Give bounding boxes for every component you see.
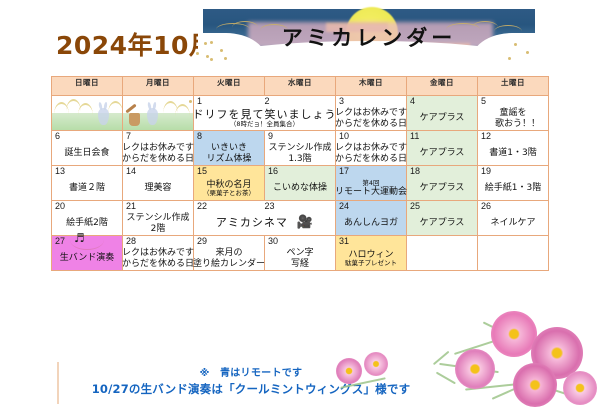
event-content: ステンシル作成 2階 bbox=[123, 212, 193, 235]
event-line-1: ネイルケア bbox=[490, 218, 535, 228]
day-number: 31 bbox=[339, 236, 349, 247]
calendar-week-row: 6 誕生日会食 7 レクはお休みです からだを休める日 8 いきいき bbox=[52, 131, 549, 166]
event-line-2: 写経 bbox=[291, 259, 309, 269]
weekday-header-tue: 火曜日 bbox=[194, 77, 265, 96]
event-content: 中秋の名月 （栗菓子とお茶） bbox=[194, 177, 264, 200]
calendar-cell-day-25[interactable]: 25 ケアプラス bbox=[407, 201, 478, 236]
calendar-cell-day-1[interactable]: 1 ドリフを見て笑いましょう （8時だョ！全員集合） 2 bbox=[194, 96, 336, 131]
day-number: 29 bbox=[197, 236, 207, 247]
event-content: 理美容 bbox=[123, 177, 193, 200]
calendar-banner: アミカレンダー bbox=[198, 5, 540, 63]
calendar-week-row: 1 ドリフを見て笑いましょう （8時だョ！全員集合） 2 3 レクはお休みです … bbox=[52, 96, 549, 131]
flower-leaf bbox=[492, 388, 515, 399]
weekday-header-fri: 金曜日 bbox=[407, 77, 478, 96]
kine-pestle-icon bbox=[125, 104, 136, 114]
event-content: 生バンド演奏 bbox=[52, 247, 122, 270]
sparkle-dot-icon bbox=[224, 57, 227, 60]
sparkle-dot-icon bbox=[508, 57, 511, 60]
event-subtext: （栗菓子とお茶） bbox=[203, 190, 255, 197]
calendar-cell-day-11[interactable]: 11 ケアプラス bbox=[407, 131, 478, 166]
event-line-1: ステンシル作成 bbox=[126, 213, 189, 223]
event-line-1: 絵手紙2階 bbox=[66, 218, 108, 228]
calendar-cell-day-16[interactable]: 16 こいめな体操 bbox=[265, 166, 336, 201]
calendar-cell-empty[interactable] bbox=[407, 236, 478, 271]
calendar-cell-day-9[interactable]: 9 ステンシル作成 1.3階 bbox=[265, 131, 336, 166]
sparkle-dot-icon bbox=[189, 100, 192, 103]
day-number: 10 bbox=[339, 131, 349, 142]
event-line-1: 理美容 bbox=[144, 183, 171, 193]
event-content: アミカシネマ 🎥 bbox=[194, 212, 335, 235]
event-line-2: からだを休める日 bbox=[335, 154, 407, 164]
event-content: ハロウィン 駄菓子プレゼント bbox=[336, 247, 406, 270]
event-content: ケアプラス bbox=[407, 177, 477, 200]
event-content: レクはお休みです からだを休める日 bbox=[123, 247, 193, 270]
day-number: 8 bbox=[197, 131, 202, 142]
cosmos-flower-icon bbox=[563, 371, 597, 405]
event-line-1: 絵手紙1・3階 bbox=[485, 183, 541, 193]
flower-stem bbox=[465, 381, 535, 390]
calendar-cell-day-30[interactable]: 30 ペン字 写経 bbox=[265, 236, 336, 271]
day-number: 5 bbox=[481, 96, 486, 107]
weekday-header-sat: 土曜日 bbox=[478, 77, 549, 96]
day-number: 16 bbox=[268, 166, 278, 177]
weekday-header-mon: 月曜日 bbox=[123, 77, 194, 96]
day-number: 18 bbox=[410, 166, 420, 177]
calendar-cell-day-10[interactable]: 10 レクはお休みです からだを休める日 bbox=[336, 131, 407, 166]
day-number: 6 bbox=[55, 131, 60, 142]
event-line-1: 誕生日会食 bbox=[64, 148, 109, 158]
calendar-cell-day-20[interactable]: 20 絵手紙2階 bbox=[52, 201, 123, 236]
day-number: 15 bbox=[197, 166, 207, 177]
event-subtext: （8時だョ！全員集合） bbox=[230, 121, 299, 128]
calendar-container: 日曜日 月曜日 火曜日 水曜日 木曜日 金曜日 土曜日 bbox=[51, 76, 549, 271]
event-line-2: からだを休める日 bbox=[122, 154, 194, 164]
event-line-2: リズム体操 bbox=[206, 154, 251, 164]
event-line-1: レクはお休みです bbox=[122, 248, 194, 258]
event-line-2: 塗り絵カレンダー bbox=[193, 259, 265, 269]
event-content: ドリフを見て笑いましょう （8時だョ！全員集合） bbox=[194, 107, 335, 130]
flower-stem bbox=[483, 321, 523, 342]
day-number: 19 bbox=[481, 166, 491, 177]
calendar-cell-day-6[interactable]: 6 誕生日会食 bbox=[52, 131, 123, 166]
event-content: レクはお休みです からだを休める日 bbox=[336, 107, 406, 130]
event-line-2: 歌おう！！ bbox=[486, 119, 540, 129]
event-line-1: ケアプラス bbox=[420, 218, 465, 228]
sparkle-dot-icon bbox=[204, 42, 207, 45]
event-line-1: ケアプラス bbox=[420, 113, 465, 123]
weekday-header-sun: 日曜日 bbox=[52, 77, 123, 96]
event-line-1: こいめな体操 bbox=[273, 183, 327, 193]
flower-leaf bbox=[433, 351, 449, 365]
calendar-cell-day-4[interactable]: 4 ケアプラス bbox=[407, 96, 478, 131]
usu-mortar-icon bbox=[129, 113, 140, 126]
calendar-cell-day-29[interactable]: 29 来月の 塗り絵カレンダー bbox=[194, 236, 265, 271]
event-content: ネイルケア bbox=[478, 212, 548, 235]
event-line-1: ペン字 bbox=[286, 248, 313, 258]
day-number: 24 bbox=[339, 201, 349, 212]
calendar-week-row: 27 ♬ 生バンド演奏 28 レクはお休みです からだを休める日 bbox=[52, 236, 549, 271]
day-number: 21 bbox=[126, 201, 136, 212]
event-content: 絵手紙1・3階 bbox=[478, 177, 548, 200]
calendar-week-row: 20 絵手紙2階 21 ステンシル作成 2階 22 bbox=[52, 201, 549, 236]
event-content: こいめな体操 bbox=[265, 177, 335, 200]
day-number: 7 bbox=[126, 131, 131, 142]
event-line-2: 2階 bbox=[151, 224, 166, 234]
event-line-1: ケアプラス bbox=[420, 183, 465, 193]
calendar-cell-day-21[interactable]: 21 ステンシル作成 2階 bbox=[123, 201, 194, 236]
day-number: 9 bbox=[268, 131, 273, 142]
susuki-grass-icon bbox=[175, 104, 190, 119]
event-line-1: 第4回 bbox=[362, 180, 379, 187]
event-line-1: いきいき bbox=[211, 143, 247, 153]
event-content: 書道1・3階 bbox=[478, 142, 548, 165]
day-number: 26 bbox=[481, 201, 491, 212]
event-content: 絵手紙2階 bbox=[52, 212, 122, 235]
event-content: ペン字 写経 bbox=[265, 247, 335, 270]
day-number: 27 bbox=[55, 236, 65, 247]
event-content: レクはお休みです からだを休める日 bbox=[123, 142, 193, 165]
calendar-cell-day-22[interactable]: 22 アミカシネマ 🎥 23 bbox=[194, 201, 336, 236]
day-number: 20 bbox=[55, 201, 65, 212]
flower-leaf bbox=[541, 385, 566, 394]
day-number: 12 bbox=[481, 131, 491, 142]
calendar-cell-day-13[interactable]: 13 書道２階 bbox=[52, 166, 123, 201]
weekday-header-row: 日曜日 月曜日 火曜日 水曜日 木曜日 金曜日 土曜日 bbox=[52, 77, 549, 96]
event-content: 童謡を 歌おう！！ bbox=[478, 107, 548, 130]
event-line-1: ステンシル作成 bbox=[268, 143, 331, 153]
film-camera-icon: 🎥 bbox=[297, 216, 313, 231]
day-number: 13 bbox=[55, 166, 65, 177]
cosmos-flower-icon bbox=[513, 363, 557, 407]
day-number: 1 bbox=[197, 96, 202, 107]
event-line-1: 生バンド演奏 bbox=[60, 253, 114, 263]
event-line-1: レクはお休みです bbox=[122, 143, 194, 153]
event-content: 第4回 リモート大運動会 bbox=[336, 177, 406, 200]
footer-accent-bar bbox=[57, 362, 59, 404]
calendar-cell-day-5[interactable]: 5 童謡を 歌おう！！ bbox=[478, 96, 549, 131]
event-line-2: からだを休める日 bbox=[122, 259, 194, 269]
flower-stem bbox=[454, 337, 504, 355]
calendar-cell-day-18[interactable]: 18 ケアプラス bbox=[407, 166, 478, 201]
susuki-grass-icon bbox=[108, 101, 122, 116]
calendar-cell-day-15[interactable]: 15 中秋の名月 （栗菓子とお茶） bbox=[194, 166, 265, 201]
event-content: ケアプラス bbox=[407, 142, 477, 165]
event-line-1: レクはお休みです bbox=[335, 143, 407, 153]
event-line-1: 来月の bbox=[215, 248, 242, 258]
day-number: 11 bbox=[410, 131, 419, 142]
banner-title: アミカレンダー bbox=[198, 22, 540, 52]
event-content: ケアプラス bbox=[407, 107, 477, 130]
day-number: 30 bbox=[268, 236, 278, 247]
event-line-1: 童謡を bbox=[499, 108, 526, 118]
footer-note-line-2: 10/27の生バンド演奏は「クールミントウィングス」様です bbox=[51, 381, 451, 397]
page-header: 2024年10月 アミカレンダー bbox=[0, 0, 600, 72]
calendar-cell-day-24[interactable]: 24 あんしんヨガ bbox=[336, 201, 407, 236]
event-content: ケアプラス bbox=[407, 212, 477, 235]
tsukimi-illustration bbox=[52, 96, 122, 130]
calendar-cell-day-31[interactable]: 31 ハロウィン 駄菓子プレゼント bbox=[336, 236, 407, 271]
day-number: 2 bbox=[265, 96, 270, 107]
calendar-cell-empty[interactable] bbox=[478, 236, 549, 271]
event-line-1: 書道２階 bbox=[69, 183, 105, 193]
calendar-cell-day-3[interactable]: 3 レクはお休みです からだを休める日 bbox=[336, 96, 407, 131]
event-content: あんしんヨガ bbox=[336, 212, 406, 235]
calendar-cell-day-28[interactable]: 28 レクはお休みです からだを休める日 bbox=[123, 236, 194, 271]
event-line-2: 1.3階 bbox=[288, 154, 311, 164]
footer-note: ※ 青はリモートです 10/27の生バンド演奏は「クールミントウィングス」様です bbox=[51, 364, 451, 397]
cosmos-flower-icon bbox=[531, 327, 583, 379]
day-number: 23 bbox=[265, 201, 275, 212]
weekday-header-wed: 水曜日 bbox=[265, 77, 336, 96]
event-content: レクはお休みです からだを休める日 bbox=[336, 142, 406, 165]
cosmos-flower-icon bbox=[491, 311, 537, 357]
event-line-1: ケアプラス bbox=[420, 148, 465, 158]
calendar-cell-day-17[interactable]: 17 第4回 リモート大運動会 bbox=[336, 166, 407, 201]
month-title: 2024年10月 bbox=[56, 26, 214, 62]
calendar-table: 日曜日 月曜日 火曜日 水曜日 木曜日 金曜日 土曜日 bbox=[51, 76, 549, 271]
rabbit-icon bbox=[147, 108, 158, 125]
calendar-cell-day-12[interactable]: 12 書道1・3階 bbox=[478, 131, 549, 166]
calendar-cell-day-27[interactable]: 27 ♬ 生バンド演奏 bbox=[52, 236, 123, 271]
footer-note-line-1: ※ 青はリモートです bbox=[51, 364, 451, 379]
calendar-cell-day-14[interactable]: 14 理美容 bbox=[123, 166, 194, 201]
event-subtext: 駄菓子プレゼント bbox=[345, 260, 397, 267]
event-content: 書道２階 bbox=[52, 177, 122, 200]
tsukimi-illustration bbox=[123, 96, 193, 130]
event-content: 誕生日会食 bbox=[52, 142, 122, 165]
cosmos-flower-icon bbox=[455, 349, 495, 389]
calendar-cell-day-26[interactable]: 26 ネイルケア bbox=[478, 201, 549, 236]
event-content: いきいき リズム体操 bbox=[194, 142, 264, 165]
calendar-cell[interactable] bbox=[123, 96, 194, 131]
calendar-cell[interactable] bbox=[52, 96, 123, 131]
susuki-grass-icon bbox=[78, 103, 93, 118]
calendar-cell-day-8[interactable]: 8 いきいき リズム体操 bbox=[194, 131, 265, 166]
event-content: ステンシル作成 1.3階 bbox=[265, 142, 335, 165]
event-line-2: リモート大運動会 bbox=[335, 187, 407, 197]
sparkle-dot-icon bbox=[196, 52, 199, 55]
event-line-2: からだを休める日 bbox=[335, 119, 407, 129]
day-number: 28 bbox=[126, 236, 136, 247]
sparkle-dot-icon bbox=[210, 58, 213, 61]
day-number: 17 bbox=[339, 166, 349, 177]
calendar-week-row: 13 書道２階 14 理美容 15 中秋の名月 （栗菓子とお茶） bbox=[52, 166, 549, 201]
day-number: 22 bbox=[197, 201, 207, 212]
cosmos-flowers-illustration bbox=[395, 297, 600, 417]
calendar-cell-day-19[interactable]: 19 絵手紙1・3階 bbox=[478, 166, 549, 201]
sparkle-dot-icon bbox=[206, 55, 209, 58]
day-number: 25 bbox=[410, 201, 420, 212]
calendar-cell-day-7[interactable]: 7 レクはお休みです からだを休める日 bbox=[123, 131, 194, 166]
event-content: 来月の 塗り絵カレンダー bbox=[194, 247, 264, 270]
event-line-1: 書道1・3階 bbox=[489, 148, 536, 158]
day-number: 14 bbox=[126, 166, 136, 177]
event-line-1: レクはお休みです bbox=[335, 108, 407, 118]
day-number: 4 bbox=[410, 96, 415, 107]
day-number: 3 bbox=[339, 96, 344, 107]
event-line-1: あんしんヨガ bbox=[344, 218, 398, 228]
event-line-1: アミカシネマ bbox=[216, 217, 288, 229]
weekday-header-thu: 木曜日 bbox=[336, 77, 407, 96]
